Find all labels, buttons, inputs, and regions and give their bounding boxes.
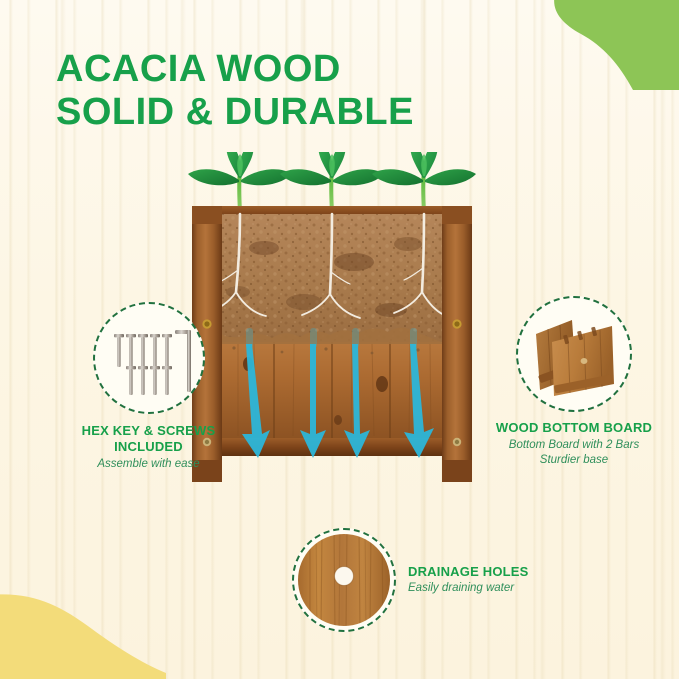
wood-bottom-board-icon [516, 296, 632, 412]
feature-subtitle: Easily draining water [408, 581, 529, 596]
board-center-hole [581, 358, 588, 364]
feature-subtitle: Assemble with ease [56, 457, 241, 472]
drainage-hole-icon [292, 528, 396, 632]
feature-hex-key-screws: HEX KEY & SCREWS INCLUDED Assemble with … [56, 302, 241, 472]
screws-and-hex-key-icon [93, 302, 205, 414]
feature-wood-bottom-board: WOOD BOTTOM BOARD Bottom Board with 2 Ba… [476, 296, 672, 468]
feature-subtitle: Bottom Board with 2 Bars Sturdier base [476, 438, 672, 468]
feature-drainage-holes: DRAINAGE HOLES Easily draining water [292, 528, 542, 632]
hex-key-icon [175, 330, 191, 392]
yellow-corner-blob-icon [0, 579, 166, 679]
infographic-canvas: ACACIA WOOD SOLID & DURABLE [0, 0, 679, 679]
seedling-group [188, 152, 476, 212]
page-title: ACACIA WOOD SOLID & DURABLE [56, 48, 414, 134]
feature-title: DRAINAGE HOLES [408, 564, 529, 580]
feature-title: HEX KEY & SCREWS INCLUDED [56, 423, 241, 455]
green-corner-blob-icon [507, 0, 679, 90]
feature-title: WOOD BOTTOM BOARD [476, 420, 672, 436]
